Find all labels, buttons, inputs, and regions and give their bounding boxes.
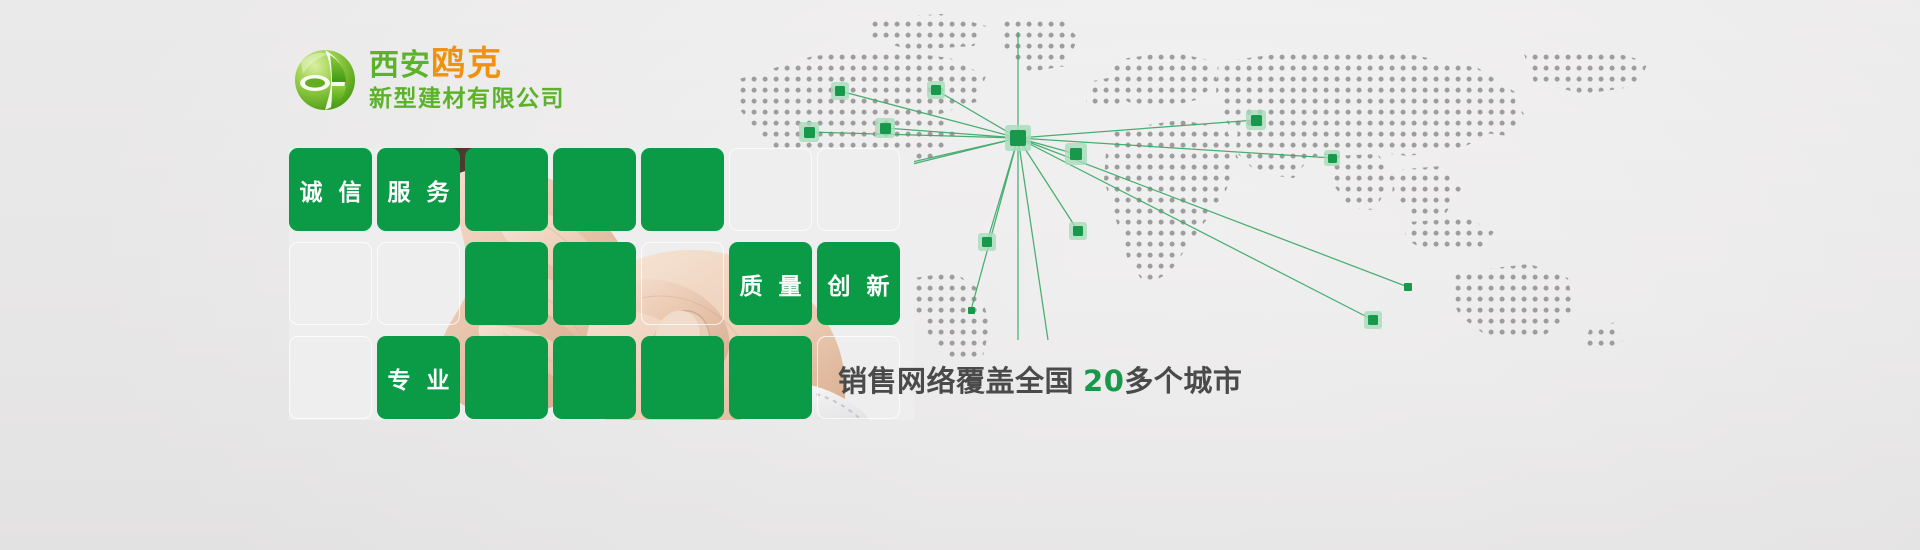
tile-filler[interactable]: [729, 336, 812, 419]
tile-filler[interactable]: [553, 148, 636, 231]
tile-glass[interactable]: [729, 148, 812, 231]
tile-grid: 诚 信 服 务 质 量 创 新 专 业: [289, 148, 914, 420]
tile-glass[interactable]: [289, 242, 372, 325]
logo-subtitle: 新型建材有限公司: [369, 88, 565, 111]
logo-city: 西安: [369, 48, 431, 83]
tile-fuwu[interactable]: 服 务: [377, 148, 460, 231]
tile-glass[interactable]: [377, 242, 460, 325]
tile-glass[interactable]: [289, 336, 372, 419]
tile-zhiliang[interactable]: 质 量: [729, 242, 812, 325]
tagline-tail: 多个城市: [1124, 364, 1242, 398]
banner-stage: 西安鸥克 新型建材有限公司: [0, 0, 1920, 550]
tile-chuangxin[interactable]: 创 新: [817, 242, 900, 325]
tile-filler[interactable]: [641, 336, 724, 419]
sales-network-tagline: 销售网络覆盖全国20多个城市: [838, 358, 1242, 400]
tile-filler[interactable]: [465, 336, 548, 419]
tagline-number: 20: [1083, 364, 1124, 398]
tile-filler[interactable]: [641, 148, 724, 231]
logo-brand: 鸥克: [431, 44, 503, 84]
green-globe-leaf-emblem: [293, 46, 357, 112]
logo-wordmark: 西安鸥克 新型建材有限公司: [369, 47, 565, 111]
tile-glass[interactable]: [641, 242, 724, 325]
tile-filler[interactable]: [465, 148, 548, 231]
tagline-lead: 销售网络覆盖全国: [838, 364, 1074, 398]
tile-filler[interactable]: [465, 242, 548, 325]
tile-zhuanye[interactable]: 专 业: [377, 336, 460, 419]
handshake-tile-collage: 诚 信 服 务 质 量 创 新 专 业: [289, 148, 914, 420]
tile-chengxin[interactable]: 诚 信: [289, 148, 372, 231]
company-logo[interactable]: 西安鸥克 新型建材有限公司: [293, 46, 565, 112]
tile-glass[interactable]: [817, 148, 900, 231]
tile-filler[interactable]: [553, 336, 636, 419]
logo-line-1: 西安鸥克: [369, 47, 565, 81]
tile-filler[interactable]: [553, 242, 636, 325]
